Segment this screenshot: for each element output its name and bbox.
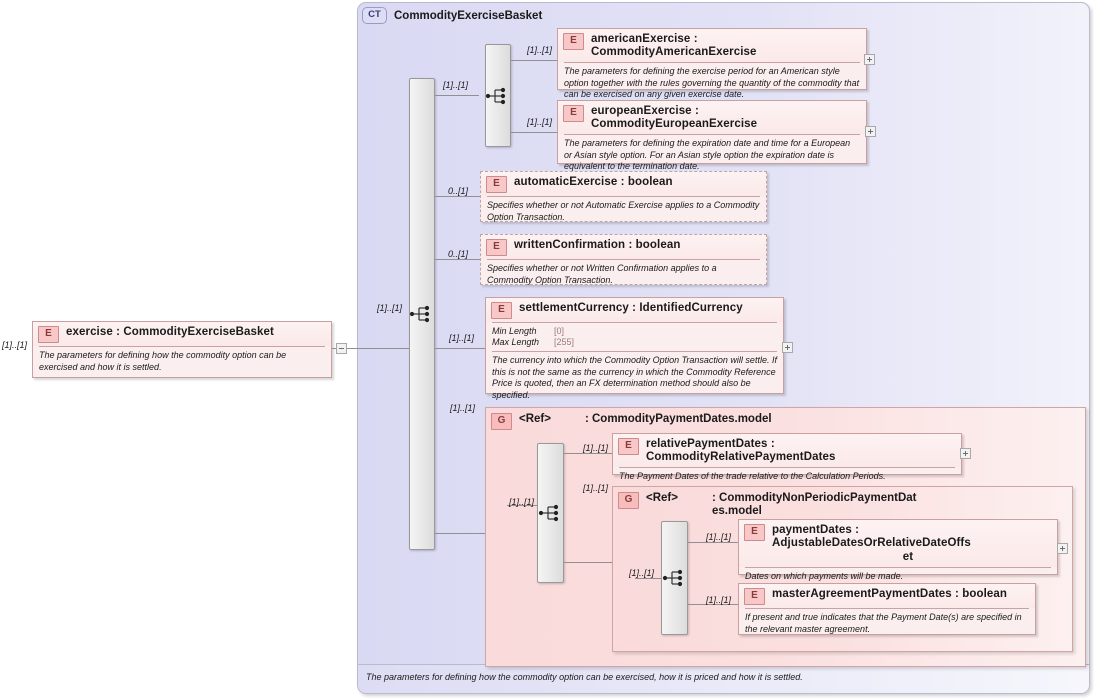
element-header: E writtenConfirmation : boolean — [481, 235, 766, 259]
occurrence-european-exercise: [1]..[1] — [527, 117, 552, 127]
element-settlement-currency-description: The currency into which the Commodity Op… — [486, 352, 783, 405]
element-badge-icon: E — [744, 588, 765, 605]
connector-line — [688, 542, 738, 543]
group-name-row: <Ref> : CommodityPaymentDates.model — [519, 413, 772, 426]
element-american-exercise-description: The parameters for defining the exercise… — [558, 63, 866, 105]
element-written-confirmation-description: Specifies whether or not Written Confirm… — [481, 260, 766, 290]
expand-toggle-relative-payment-dates[interactable] — [960, 448, 971, 459]
occurrence-automatic-exercise: 0..[1] — [448, 186, 468, 196]
occurrence-nonperiodic-group: [1]..[1] — [583, 483, 608, 493]
element-exercise-description: The parameters for defining how the comm… — [33, 347, 331, 377]
connector-line — [435, 348, 485, 349]
main-sequence-occurrence: [1]..[1] — [377, 303, 402, 313]
element-settlement-currency-title: settlementCurrency : IdentifiedCurrency — [519, 301, 743, 315]
complextype-footer-text: The parameters for defining how the comm… — [366, 672, 803, 682]
element-header: E paymentDates : AdjustableDatesOrRelati… — [739, 520, 1057, 567]
group-ref-label: <Ref> — [519, 413, 551, 426]
collapse-toggle-exercise[interactable] — [336, 343, 347, 354]
complextype-name: CommodityExerciseBasket — [394, 10, 542, 22]
complextype-badge-icon: CT — [362, 7, 387, 24]
element-master-agreement-payment-dates-title: masterAgreementPaymentDates : boolean — [772, 587, 1007, 601]
group-badge-icon: G — [618, 492, 639, 509]
connector-line — [511, 60, 557, 61]
sequence-connector-main[interactable] — [409, 78, 435, 550]
occurrence-payment-dates-model: [1]..[1] — [450, 403, 475, 413]
element-relative-payment-dates-title: relativePaymentDates : CommodityRelative… — [646, 437, 956, 464]
choice-connector-payment-dates[interactable] — [537, 443, 564, 583]
choice-occurrence-label: [1]..[1] — [443, 80, 468, 90]
occurrence-payment-dates: [1]..[1] — [706, 532, 731, 542]
facet-min-length: Min Length [0] — [492, 326, 777, 337]
group-name-line2: es.model — [712, 505, 916, 518]
expand-toggle-payment-dates[interactable] — [1057, 543, 1068, 554]
element-written-confirmation[interactable]: E writtenConfirmation : boolean Specifie… — [480, 234, 767, 285]
complextype-header: CT CommodityExerciseBasket — [362, 7, 542, 24]
expand-toggle-european-exercise[interactable] — [865, 126, 876, 137]
group-header: G <Ref> : CommodityPaymentDates.model — [491, 413, 772, 430]
element-badge-icon: E — [563, 105, 584, 122]
element-badge-icon: E — [563, 33, 584, 50]
sequence-icon — [409, 304, 435, 324]
connector-line — [435, 95, 479, 96]
facet-name: Min Length — [492, 326, 554, 337]
element-badge-icon: E — [486, 176, 507, 193]
element-header: E settlementCurrency : IdentifiedCurrenc… — [486, 298, 783, 322]
occurrence-inner-choice-paymentdates: [1]..[1] — [509, 497, 534, 507]
facet-value: [255] — [554, 337, 574, 348]
element-header: E europeanExercise : CommodityEuropeanEx… — [558, 101, 866, 134]
connector-line — [564, 453, 612, 454]
element-badge-icon: E — [38, 326, 59, 343]
facet-name: Max Length — [492, 337, 554, 348]
facet-max-length: Max Length [255] — [492, 337, 777, 348]
root-occurrence-label: [1]..[1] — [2, 340, 27, 350]
group-ref-label: <Ref> — [646, 492, 712, 505]
occurrence-master-agreement-payment-dates: [1]..[1] — [706, 595, 731, 605]
occurrence-settlement-currency: [1]..[1] — [449, 333, 474, 343]
element-exercise[interactable]: E exercise : CommodityExerciseBasket The… — [32, 321, 332, 378]
connector-line — [435, 259, 480, 260]
element-header: E relativePaymentDates : CommodityRelati… — [613, 434, 961, 467]
element-american-exercise[interactable]: E americanExercise : CommodityAmericanEx… — [557, 28, 867, 90]
element-european-exercise-title: europeanExercise : CommodityEuropeanExer… — [591, 104, 861, 131]
element-badge-icon: E — [618, 438, 639, 455]
connector-line — [635, 578, 662, 579]
element-american-exercise-title: americanExercise : CommodityAmericanExer… — [591, 32, 861, 59]
element-master-agreement-payment-dates[interactable]: E masterAgreementPaymentDates : boolean … — [738, 583, 1036, 635]
group-badge-icon: G — [491, 413, 512, 430]
occurrence-american-exercise: [1]..[1] — [527, 45, 552, 55]
element-header: E masterAgreementPaymentDates : boolean — [739, 584, 1035, 608]
element-relative-payment-dates[interactable]: E relativePaymentDates : CommodityRelati… — [612, 433, 962, 475]
choice-icon — [662, 568, 688, 588]
group-name: : CommodityNonPeriodicPaymentDat — [712, 492, 916, 504]
choice-icon — [485, 86, 511, 106]
connector-line — [511, 132, 557, 133]
connector-line — [357, 348, 409, 349]
group-name-row: <Ref>: CommodityNonPeriodicPaymentDat es… — [646, 492, 916, 518]
occurrence-written-confirmation: 0..[1] — [448, 249, 468, 259]
connector-line — [435, 533, 485, 534]
element-european-exercise[interactable]: E europeanExercise : CommodityEuropeanEx… — [557, 100, 867, 164]
element-settlement-currency[interactable]: E settlementCurrency : IdentifiedCurrenc… — [485, 297, 784, 394]
element-badge-icon: E — [486, 239, 507, 256]
expand-toggle-settlement-currency[interactable] — [782, 342, 793, 353]
element-written-confirmation-title: writtenConfirmation : boolean — [514, 238, 680, 252]
element-payment-dates-title: paymentDates : AdjustableDatesOrRelative… — [772, 523, 1052, 550]
element-header: E automaticExercise : boolean — [481, 172, 766, 196]
occurrence-inner-choice-nonperiodic: [1]..[1] — [629, 568, 654, 578]
element-master-agreement-payment-dates-description: If present and true indicates that the P… — [739, 609, 1035, 639]
connector-line — [564, 562, 612, 563]
facet-value: [0] — [554, 326, 564, 337]
choice-connector-exercise-style[interactable] — [485, 44, 511, 147]
element-automatic-exercise-title: automaticExercise : boolean — [514, 175, 673, 189]
element-header: E americanExercise : CommodityAmericanEx… — [558, 29, 866, 62]
element-relative-payment-dates-description: The Payment Dates of the trade relative … — [613, 468, 961, 487]
element-exercise-title: exercise : CommodityExerciseBasket — [66, 325, 274, 339]
expand-toggle-american-exercise[interactable] — [864, 54, 875, 65]
group-header: G <Ref>: CommodityNonPeriodicPaymentDat … — [618, 492, 916, 518]
choice-connector-nonperiodic[interactable] — [661, 521, 688, 635]
element-automatic-exercise[interactable]: E automaticExercise : boolean Specifies … — [480, 171, 767, 222]
connector-line — [435, 196, 480, 197]
connector-line — [347, 348, 357, 349]
facet-list: Min Length [0] Max Length [255] — [486, 323, 783, 351]
element-badge-icon: E — [491, 302, 512, 319]
choice-icon — [538, 503, 564, 523]
element-payment-dates-title-line2: et — [744, 550, 1052, 564]
element-exercise-header: E exercise : CommodityExerciseBasket — [33, 322, 331, 346]
complextype-footer: The parameters for defining how the comm… — [358, 664, 1089, 693]
element-badge-icon: E — [744, 524, 765, 541]
occurrence-relative-payment-dates: [1]..[1] — [583, 443, 608, 453]
element-automatic-exercise-description: Specifies whether or not Automatic Exerc… — [481, 197, 766, 227]
element-payment-dates[interactable]: E paymentDates : AdjustableDatesOrRelati… — [738, 519, 1058, 575]
group-name: : CommodityPaymentDates.model — [585, 413, 772, 426]
